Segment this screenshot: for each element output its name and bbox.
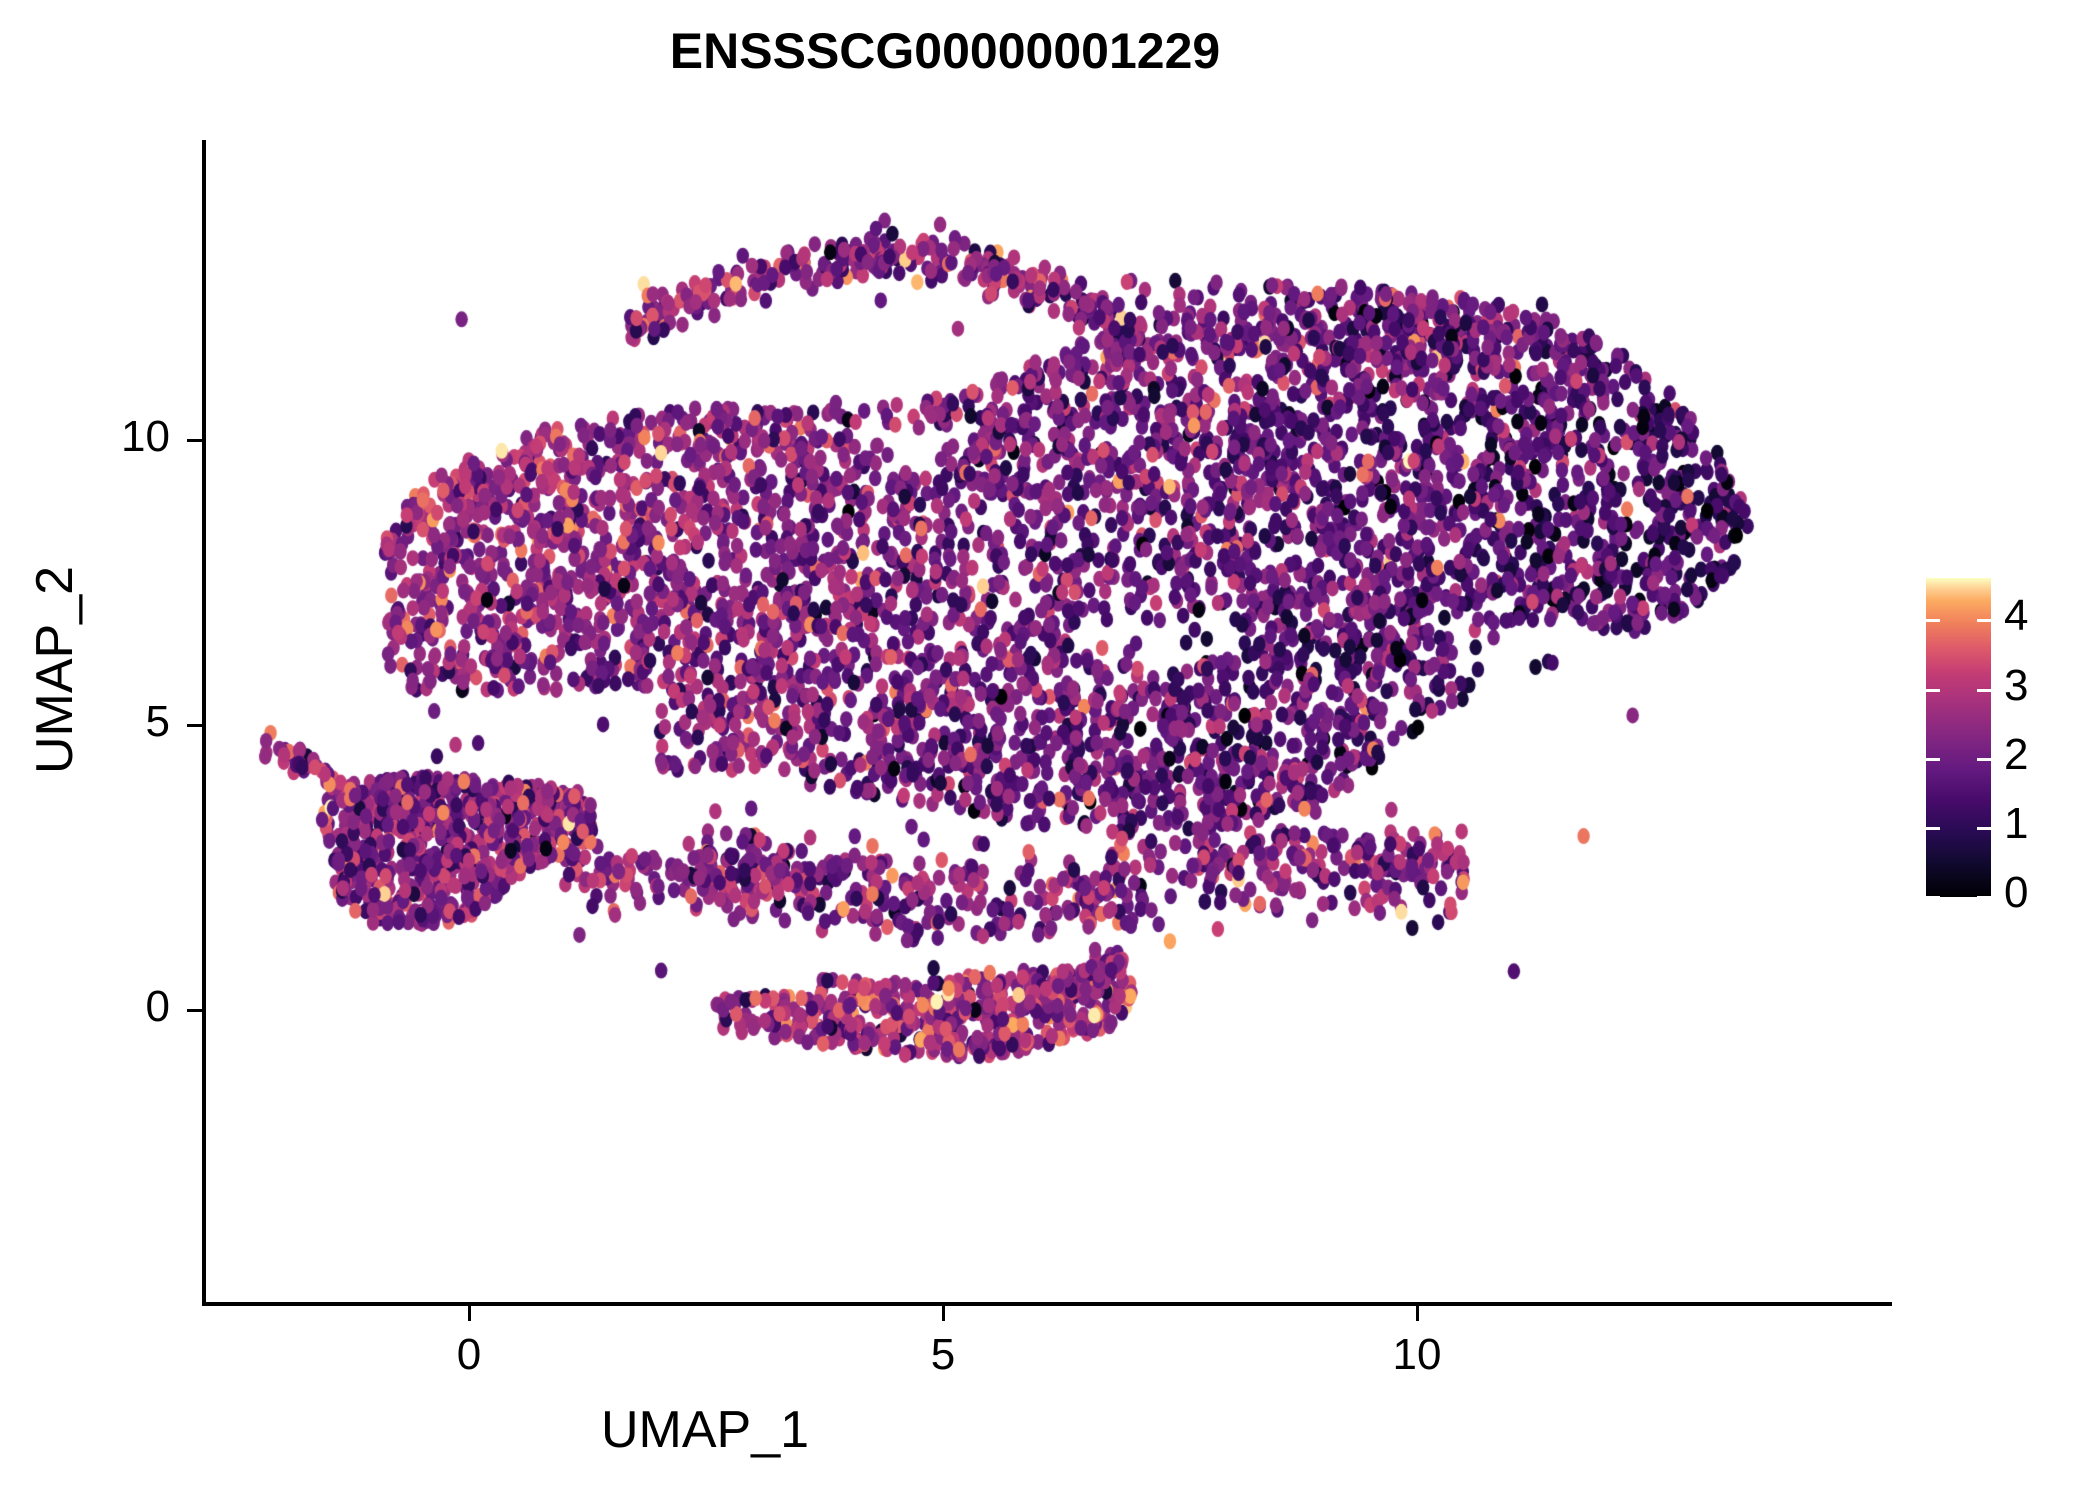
y-tick-mark [187,1009,202,1012]
colorbar-tick-mark [1977,689,1991,692]
x-tick-mark [1416,1306,1419,1321]
colorbar-tick-mark [1926,758,1940,761]
scatter-plot-canvas [205,140,1890,1303]
colorbar-tick-mark [1926,827,1940,830]
y-tick-label: 10 [0,412,170,462]
x-tick-label: 10 [1357,1330,1477,1380]
y-tick-mark [187,439,202,442]
x-tick-label: 5 [883,1330,1003,1380]
colorbar-tick-label: 3 [2004,664,2028,708]
colorbar-tick-mark [1977,827,1991,830]
colorbar-gradient [1926,578,1991,897]
colorbar-tick-mark [1977,758,1991,761]
y-axis-title: UMAP_2 [25,460,85,880]
colorbar-tick-label: 1 [2004,802,2028,846]
y-tick-label: 0 [0,982,170,1032]
colorbar-tick-mark [1977,896,1991,899]
colorbar-tick-mark [1926,689,1940,692]
y-axis-line [202,140,206,1306]
x-tick-mark [468,1306,471,1321]
colorbar-tick-label: 4 [2004,594,2028,638]
colorbar-tick-label: 0 [2004,871,2028,915]
x-axis-title: UMAP_1 [205,1400,1205,1460]
colorbar-tick-mark [1926,896,1940,899]
x-tick-mark [942,1306,945,1321]
x-tick-label: 0 [409,1330,529,1380]
page-title: ENSSSCG00000001229 [0,22,1890,80]
colorbar-tick-label: 2 [2004,733,2028,777]
feature-plot-root: ENSSSCG00000001229 0510 0510 UMAP_1 UMAP… [0,0,2100,1500]
x-axis-line [202,1302,1892,1306]
colorbar-legend: 01234 [1926,578,2086,898]
plot-panel [205,140,1890,1303]
colorbar-tick-mark [1926,619,1940,622]
colorbar-tick-mark [1977,619,1991,622]
y-tick-mark [187,724,202,727]
